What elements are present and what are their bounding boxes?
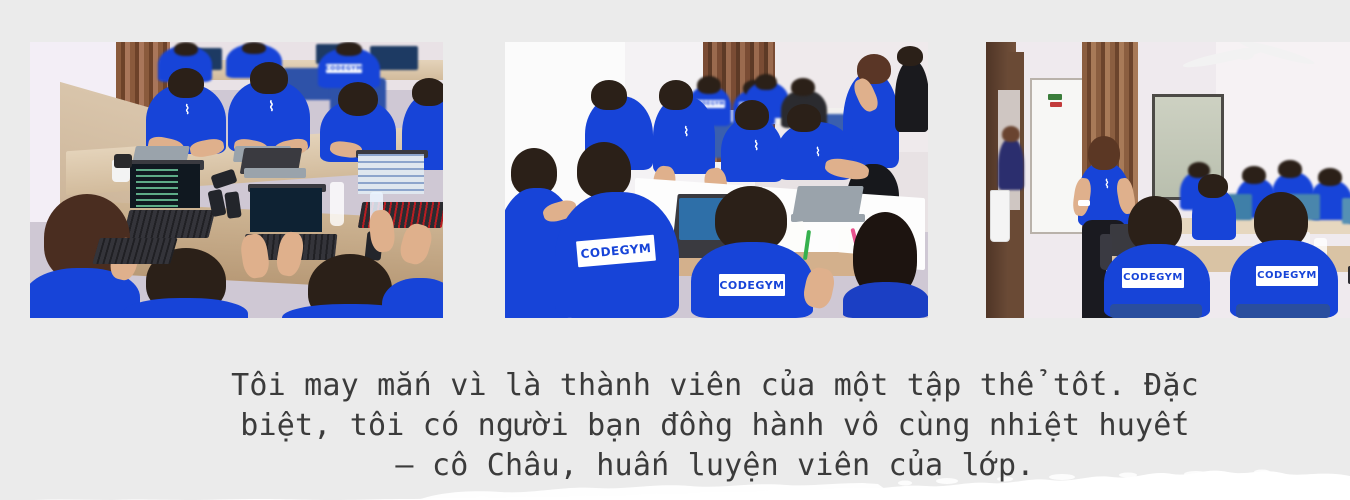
photo-gallery-strip: CODEGYM ⌇ ⌇: [0, 26, 1350, 302]
pull-quote: Tôi may mắn vì là thành viên của một tập…: [40, 366, 1350, 486]
photo-2-scene: CODEGYM CODEGYM ⌇ ⌇: [505, 42, 928, 318]
quote-line-2: biệt, tôi có người bạn đồng hành vô cùng…: [40, 406, 1350, 446]
brand-text: CODEGYM: [1257, 271, 1317, 281]
shirt-logo-back: CODEGYM: [1122, 268, 1184, 288]
photo-3-scene: ⌇: [986, 42, 1350, 318]
photo-1-scene: CODEGYM ⌇ ⌇: [30, 42, 443, 318]
brand-text: CODEGYM: [580, 242, 652, 260]
gallery-photo-2[interactable]: CODEGYM CODEGYM ⌇ ⌇: [505, 42, 928, 318]
chest-logo-2: ⌇: [268, 100, 275, 114]
marker-pen: [1078, 200, 1090, 206]
brand-text: CODEGYM: [719, 280, 784, 291]
shirt-logo-back: CODEGYM: [1256, 266, 1318, 286]
shirt-logo-back: CODEGYM: [719, 274, 785, 296]
chest-logo-instructor: ⌇: [1104, 178, 1110, 190]
quote-line-3: – cô Châu, huấn luyện viên của lớp.: [40, 446, 1350, 486]
instructor-head: [1088, 136, 1120, 170]
gallery-photo-1[interactable]: CODEGYM ⌇ ⌇: [30, 42, 443, 318]
ceiling-fan: [1236, 48, 1254, 60]
wall-dispenser: [990, 190, 1010, 242]
code-editor-screen: [130, 164, 200, 208]
shirt-logo-back: CODEGYM: [326, 64, 362, 73]
chest-logo-1: ⌇: [184, 104, 190, 117]
quote-line-1: Tôi may mắn vì là thành viên của một tập…: [40, 366, 1350, 406]
brand-text: CODEGYM: [1123, 273, 1183, 283]
gallery-photo-3[interactable]: ⌇: [986, 42, 1350, 318]
